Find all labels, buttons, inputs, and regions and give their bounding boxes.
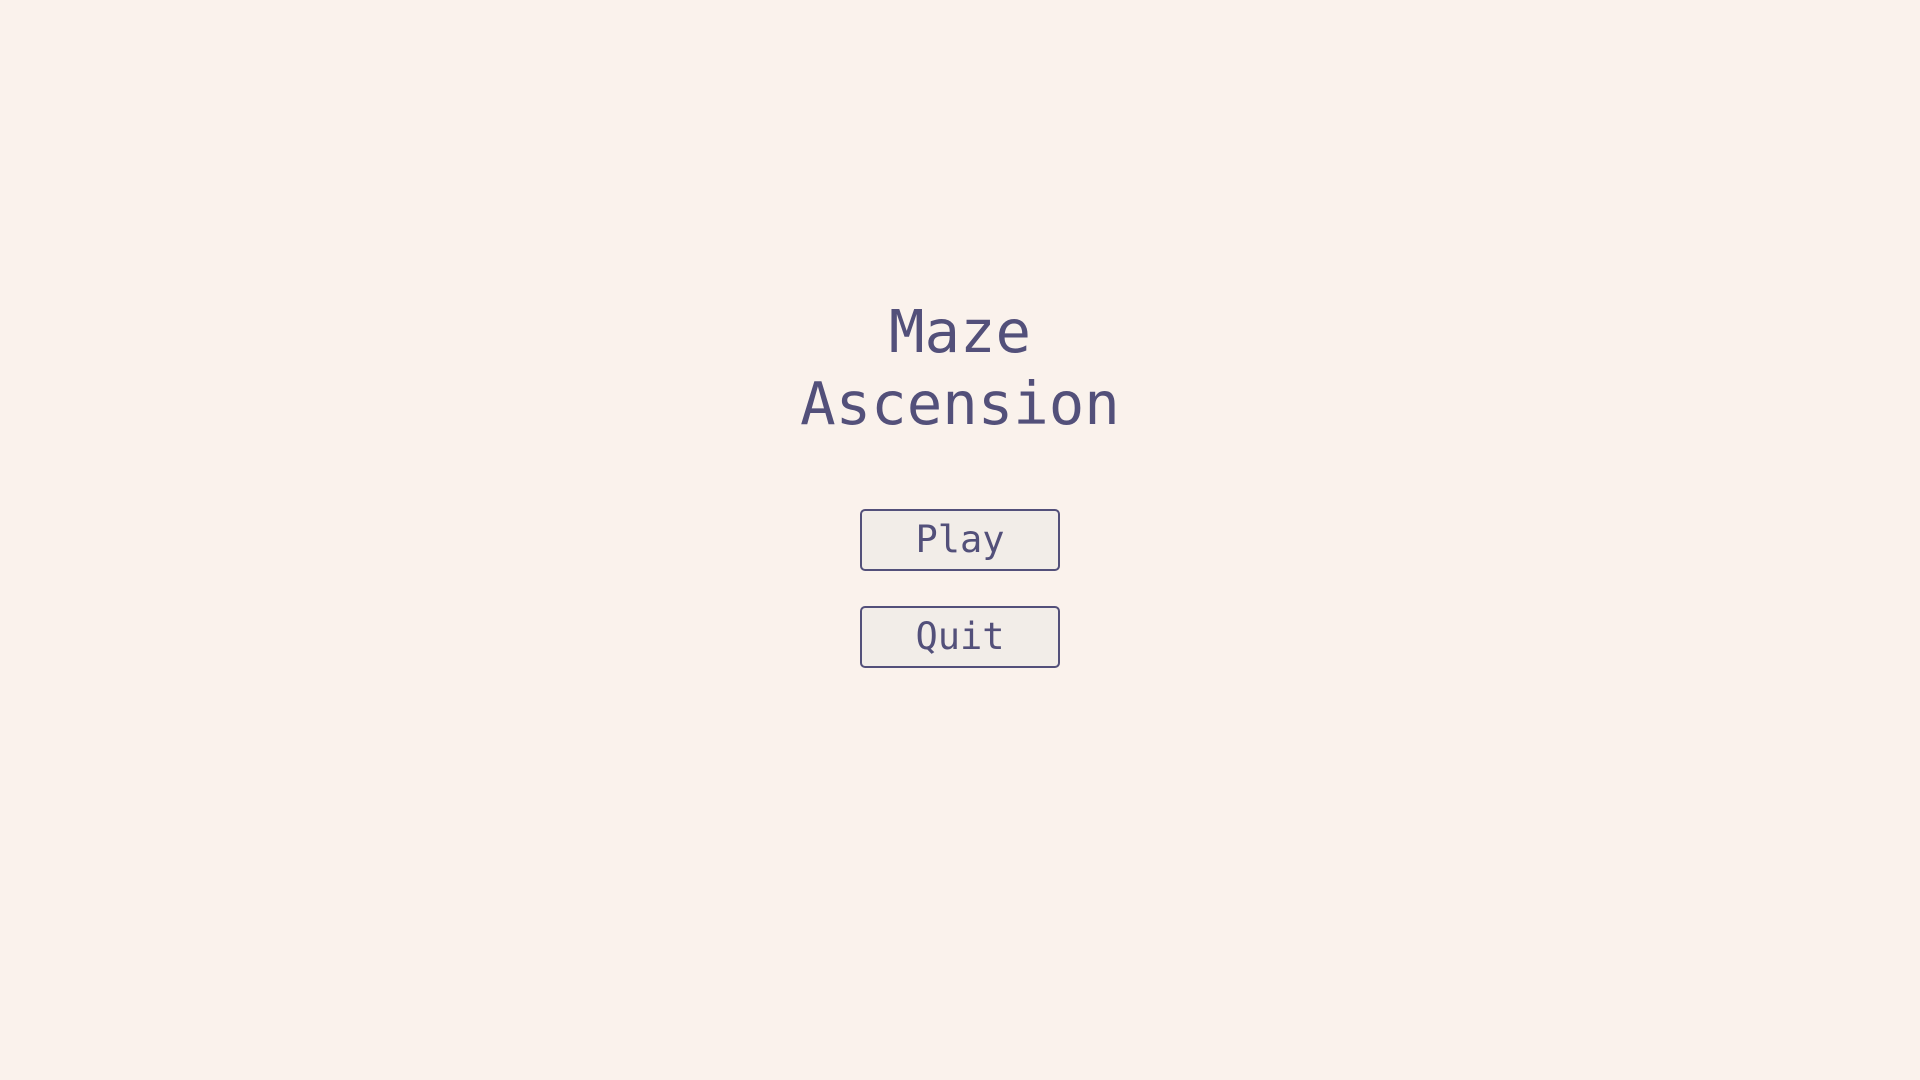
quit-button-label: Quit — [915, 618, 1004, 655]
game-title-line-1: Maze — [0, 296, 1920, 368]
game-main-menu-screen: Maze Ascension Play Quit — [0, 0, 1920, 1080]
game-title-line-2: Ascension — [0, 368, 1920, 440]
menu-button-group: Play Quit — [0, 509, 1920, 668]
play-button-label: Play — [915, 521, 1004, 558]
game-title: Maze Ascension — [0, 296, 1920, 440]
main-menu: Maze Ascension Play Quit — [0, 0, 1920, 1080]
quit-button[interactable]: Quit — [860, 606, 1060, 668]
play-button[interactable]: Play — [860, 509, 1060, 571]
